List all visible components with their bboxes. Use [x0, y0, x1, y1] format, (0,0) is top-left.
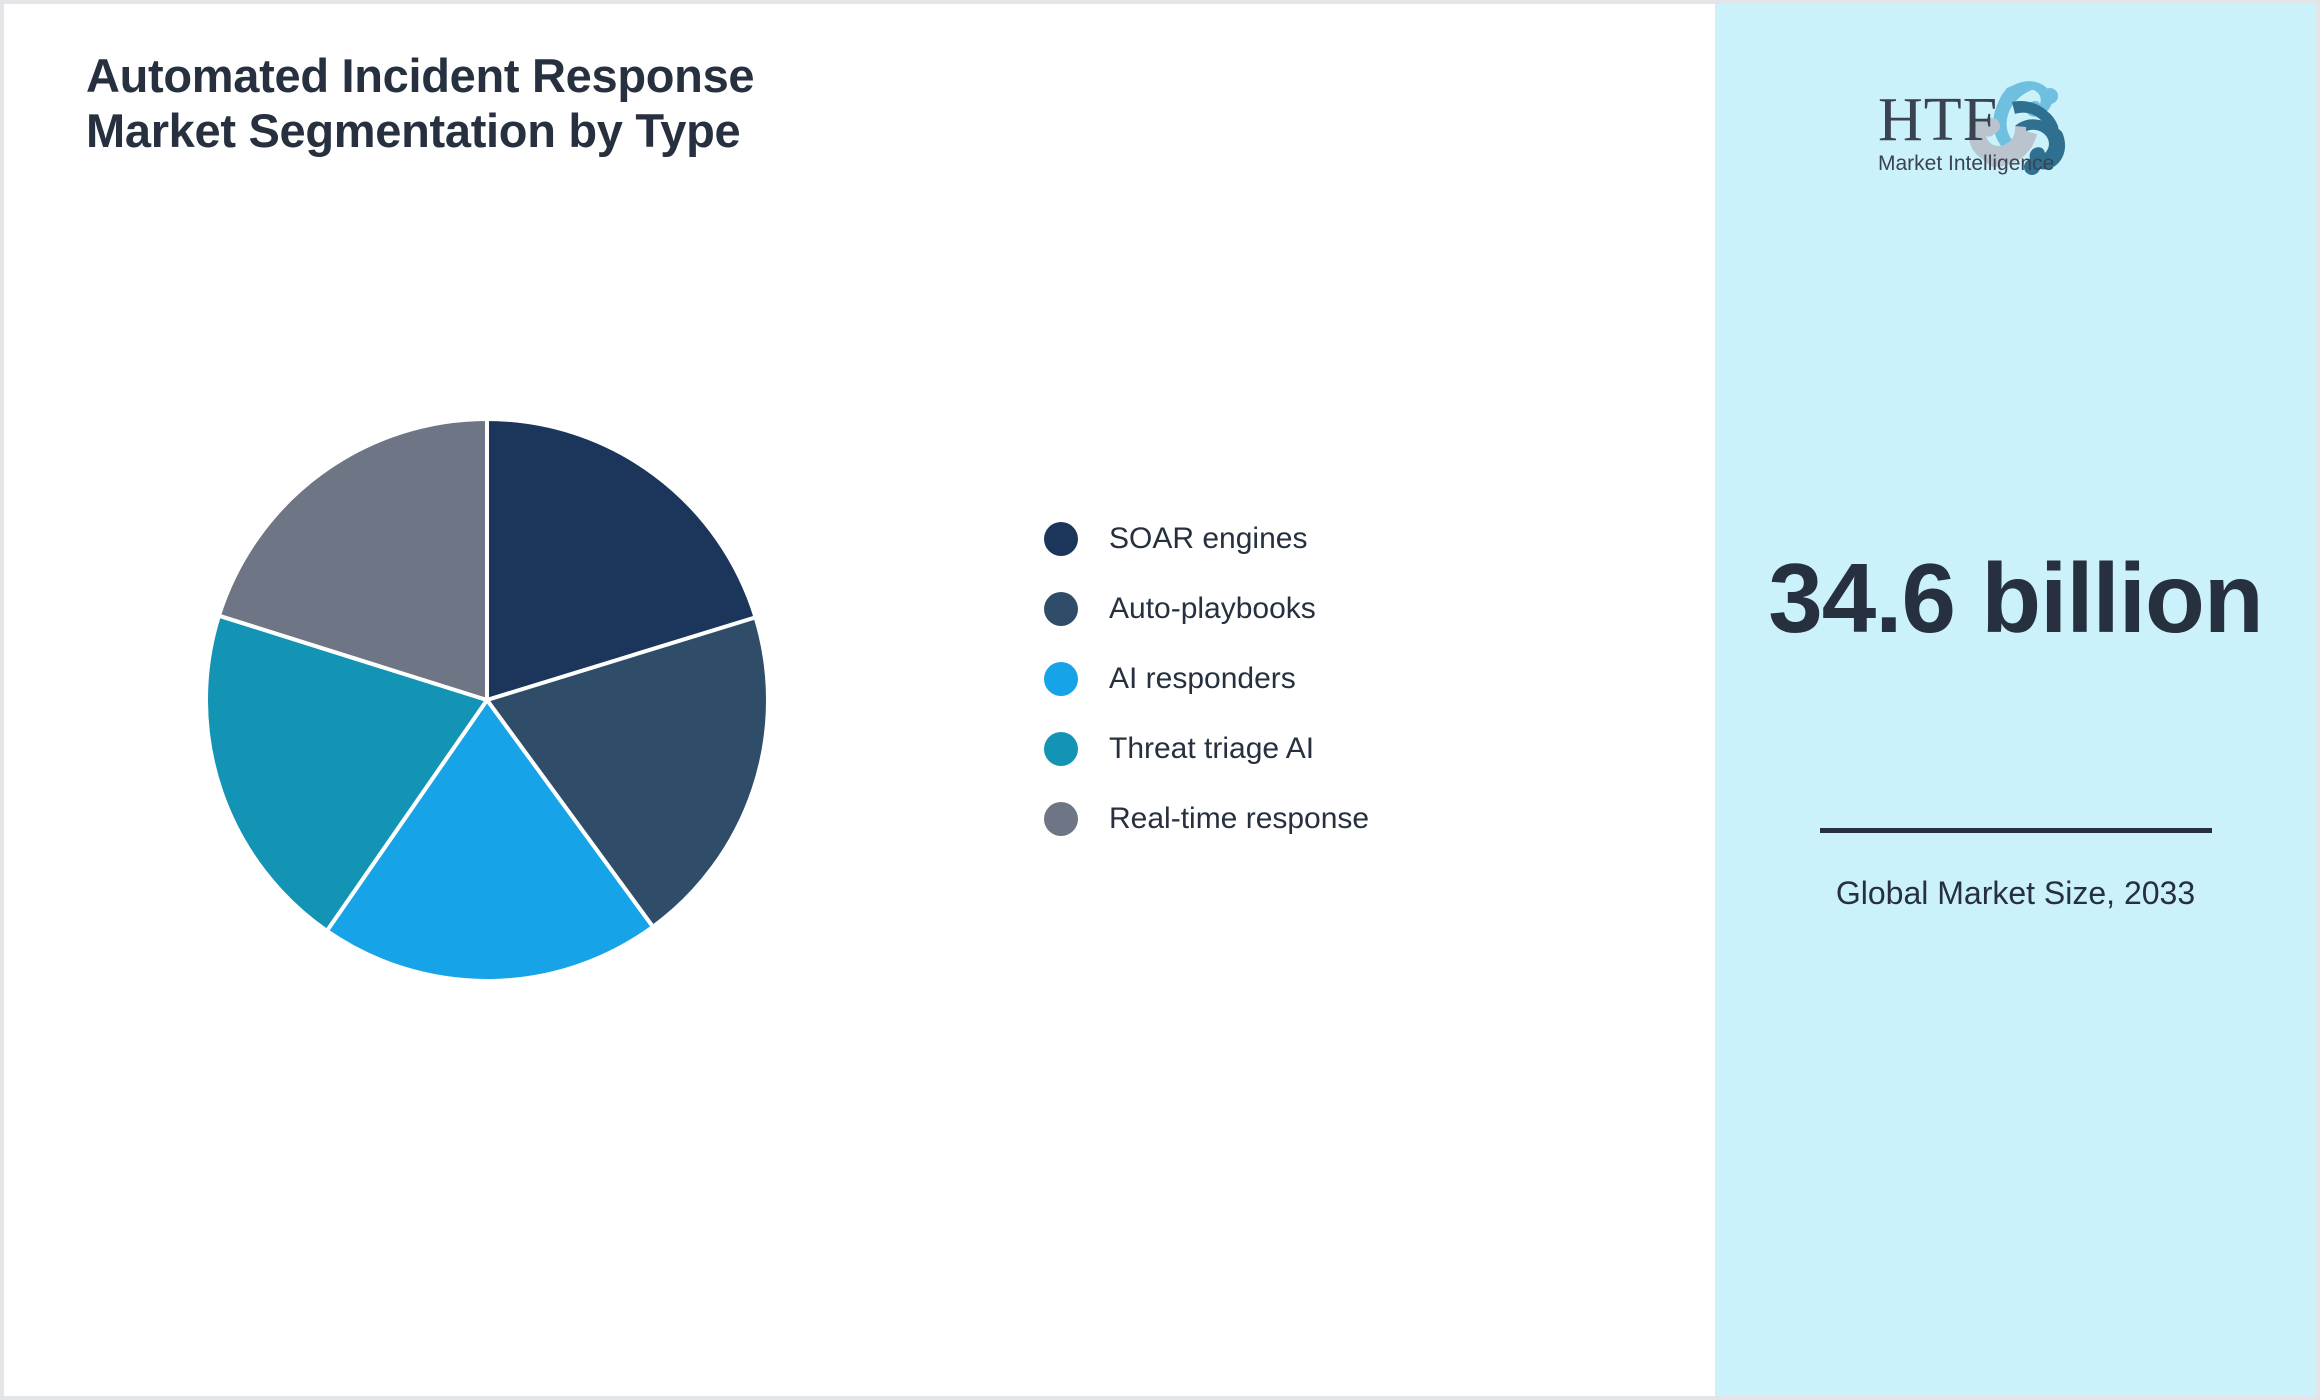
chart-legend: SOAR enginesAuto-playbooksAI respondersT…	[1044, 522, 1369, 836]
page-title: Automated Incident Response Market Segme…	[86, 48, 1086, 159]
stat-value: 34.6 billion	[1715, 544, 2316, 654]
legend-item-label: AI responders	[1109, 664, 1296, 694]
legend-swatch-icon	[1044, 592, 1078, 626]
legend-item[interactable]: Auto-playbooks	[1044, 592, 1369, 626]
stat-divider	[1820, 828, 2212, 833]
legend-swatch-icon	[1044, 662, 1078, 696]
legend-swatch-icon	[1044, 802, 1078, 836]
pie-chart-svg	[204, 417, 770, 983]
stat-caption: Global Market Size, 2033	[1715, 870, 2316, 917]
htf-logo-svg: HTF Market Intelligence	[1866, 66, 2166, 178]
svg-text:Market Intelligence: Market Intelligence	[1878, 152, 2054, 175]
legend-item-label: SOAR engines	[1109, 524, 1307, 554]
legend-item[interactable]: Real-time response	[1044, 802, 1369, 836]
stat-panel: HTF Market Intelligence 34.6 billion Glo…	[1715, 4, 2316, 1396]
htf-logo: HTF Market Intelligence	[1866, 66, 2166, 178]
legend-swatch-icon	[1044, 522, 1078, 556]
legend-item[interactable]: AI responders	[1044, 662, 1369, 696]
legend-item[interactable]: Threat triage AI	[1044, 732, 1369, 766]
pie-chart	[204, 417, 770, 983]
legend-item[interactable]: SOAR engines	[1044, 522, 1369, 556]
legend-item-label: Threat triage AI	[1109, 734, 1314, 764]
svg-text:HTF: HTF	[1878, 86, 1998, 154]
legend-item-label: Real-time response	[1109, 804, 1369, 834]
chart-panel: Automated Incident Response Market Segme…	[4, 4, 1715, 1396]
legend-swatch-icon	[1044, 732, 1078, 766]
legend-item-label: Auto-playbooks	[1109, 594, 1316, 624]
infographic-root: Automated Incident Response Market Segme…	[0, 0, 2320, 1400]
